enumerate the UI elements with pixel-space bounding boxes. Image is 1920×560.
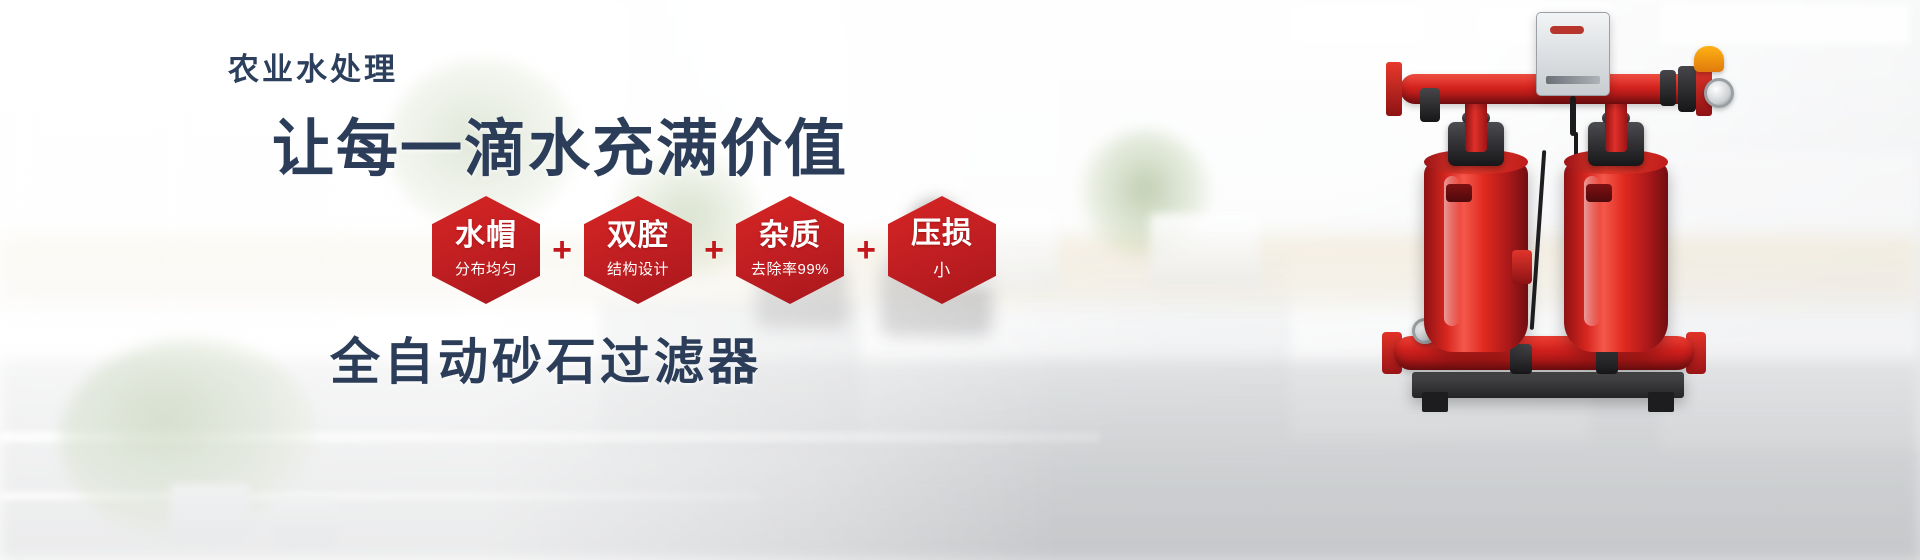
plus-separator-3: + (844, 233, 888, 267)
base-foot-right (1648, 392, 1674, 412)
feature-badge-2-subtitle: 结构设计 (607, 258, 669, 279)
air-release-valve-icon (1694, 46, 1724, 72)
cable-icon-2 (1530, 150, 1547, 330)
base-skid (1412, 372, 1684, 398)
feature-badge-list: 水帽 分布均匀 + 双腔 结构设计 + 杂质 去除率99% + 压损 小 (432, 196, 996, 304)
feature-badge-1: 水帽 分布均匀 (432, 196, 540, 304)
tank-hatch-right (1586, 184, 1612, 202)
tank-hatch-left (1446, 184, 1472, 202)
feature-badge-2-title: 双腔 (607, 221, 669, 251)
manifold-flange-left (1386, 62, 1402, 116)
feature-badge-2: 双腔 结构设计 (584, 196, 692, 304)
feature-badge-3-subtitle: 去除率99% (751, 258, 829, 279)
feature-badge-3-title: 杂质 (759, 221, 821, 251)
feature-badge-4-title: 压损 (911, 219, 973, 249)
headline-text: 让每一滴水充满价值 (272, 98, 848, 188)
lower-fitting-left (1510, 344, 1532, 374)
control-box-badge (1550, 26, 1584, 34)
promo-banner: 农业水处理 让每一滴水充满价值 全自动砂石过滤器 水帽 分布均匀 + 双腔 结构… (0, 0, 1920, 560)
controller-mount-stem (1570, 96, 1576, 136)
upper-fitting-right (1678, 66, 1696, 112)
control-box-label (1546, 76, 1600, 84)
feature-badge-1-subtitle: 分布均匀 (455, 258, 517, 279)
filter-tank-right (1564, 162, 1668, 352)
riser-pipe-left (1465, 98, 1487, 152)
feature-badge-1-title: 水帽 (455, 221, 517, 251)
product-image (1360, 0, 1920, 560)
pressure-gauge-upper (1704, 78, 1734, 108)
feature-badge-3: 杂质 去除率99% (736, 196, 844, 304)
product-title-text: 全自动砂石过滤器 (330, 322, 762, 394)
feature-badge-4-subtitle: 小 (933, 256, 951, 281)
eyebrow-text: 农业水处理 (228, 44, 398, 89)
plus-separator-2: + (692, 233, 736, 267)
upper-fitting-right-inner (1660, 70, 1676, 106)
upper-fitting-left (1420, 88, 1440, 122)
feature-badge-4: 压损 小 (888, 196, 996, 304)
plus-separator-1: + (540, 233, 584, 267)
tank-side-port (1512, 250, 1532, 284)
base-foot-left (1422, 392, 1448, 412)
riser-pipe-right (1605, 98, 1627, 152)
